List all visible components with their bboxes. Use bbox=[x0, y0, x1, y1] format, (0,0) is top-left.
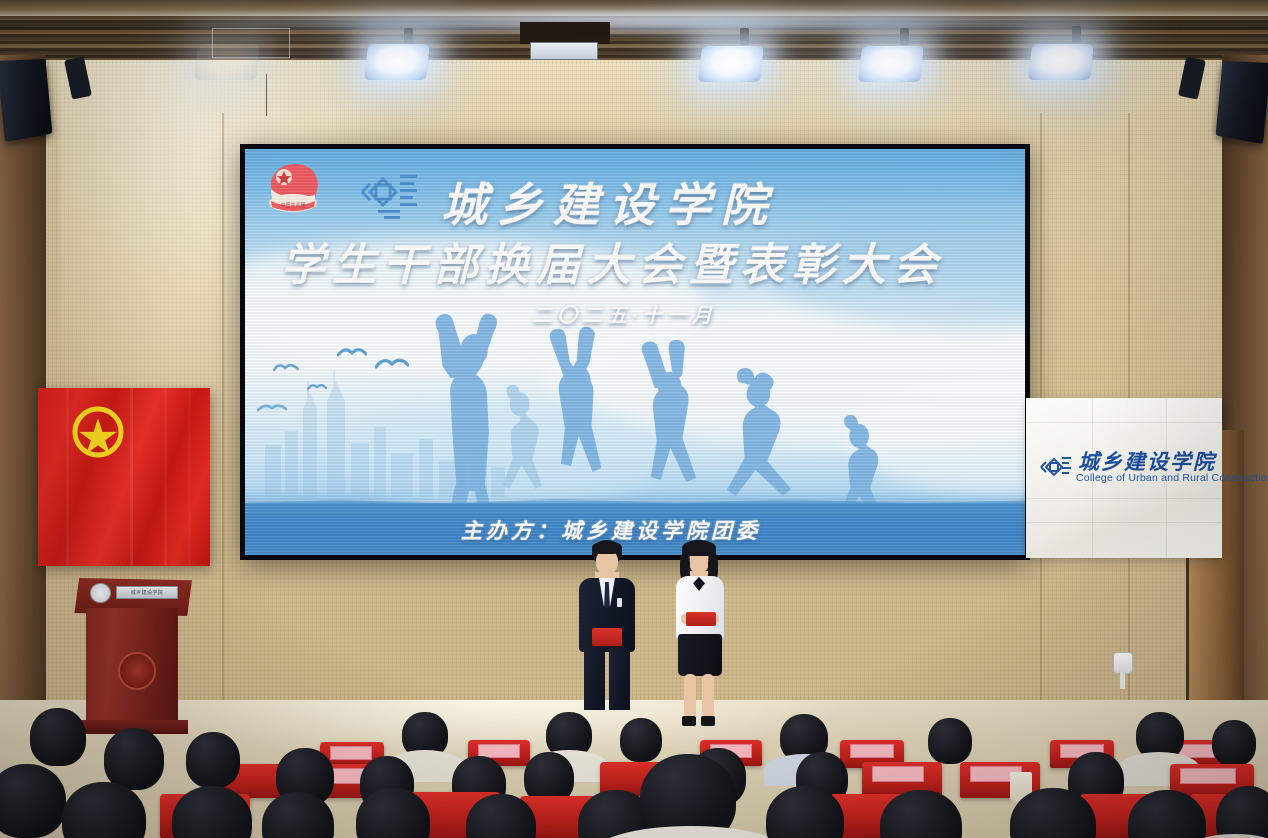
seat-name-card bbox=[850, 744, 894, 758]
audience-head bbox=[104, 728, 164, 790]
auditorium-photo: 中国共青团 城乡建设学 bbox=[0, 0, 1268, 838]
wall-sensor-icon bbox=[1113, 652, 1133, 674]
stage-light bbox=[1028, 44, 1094, 80]
stage-light bbox=[698, 46, 764, 82]
host-male bbox=[573, 540, 641, 710]
loudspeaker-right bbox=[1216, 61, 1268, 144]
seat-name-card bbox=[872, 766, 924, 782]
audience-area bbox=[0, 690, 1268, 838]
podium-nameplate: 城乡建设学院 bbox=[116, 586, 178, 599]
stage-light bbox=[858, 46, 924, 82]
college-logo-icon bbox=[350, 163, 420, 221]
led-backdrop-screen: 中国共青团 城乡建设学 bbox=[240, 144, 1030, 560]
screen-title-line1: 城乡建设学院 bbox=[441, 169, 777, 235]
loudspeaker-left bbox=[0, 59, 52, 142]
seat-name-card bbox=[330, 746, 372, 760]
led-screen-content: 中国共青团 城乡建设学 bbox=[245, 149, 1025, 555]
stage-light bbox=[194, 44, 260, 80]
podium-small-seal-icon bbox=[90, 583, 111, 603]
screen-date: 二〇二五·十一月 bbox=[532, 299, 717, 328]
id-badge bbox=[617, 598, 622, 607]
audience-head bbox=[62, 782, 146, 838]
ceiling-glow bbox=[180, 8, 1130, 34]
audience-head bbox=[0, 764, 66, 838]
wall-seam bbox=[222, 113, 224, 733]
podium-emblem-icon bbox=[118, 652, 156, 690]
left-wall-column bbox=[0, 55, 46, 715]
audience-head bbox=[928, 718, 972, 764]
svg-text:中国共青团: 中国共青团 bbox=[280, 202, 305, 209]
stage-light bbox=[364, 44, 430, 80]
red-folder bbox=[686, 612, 716, 626]
skirt bbox=[678, 634, 722, 676]
audience-head bbox=[620, 718, 662, 762]
audience-head bbox=[186, 732, 240, 788]
seat-name-card bbox=[1180, 768, 1236, 784]
banner-title-en: College of Urban and Rural Construction bbox=[1076, 472, 1268, 484]
college-banner: 城乡建设学院 College of Urban and Rural Constr… bbox=[1026, 398, 1222, 558]
ceiling-projector-box bbox=[520, 22, 610, 44]
youth-league-star-icon bbox=[70, 404, 126, 460]
ceiling-sign bbox=[530, 42, 598, 60]
screen-title-line2: 学生干部换届大会暨表彰大会 bbox=[281, 229, 944, 293]
red-folder bbox=[592, 628, 622, 646]
communist-youth-league-emblem-icon: 中国共青团 bbox=[263, 159, 325, 221]
audience-head bbox=[30, 708, 86, 766]
communist-youth-league-flag bbox=[38, 388, 210, 566]
college-logo-banner-icon bbox=[1038, 450, 1072, 484]
wall-sensor-cable bbox=[1120, 673, 1125, 689]
ceiling-wire bbox=[266, 74, 267, 116]
audience-head bbox=[1212, 720, 1256, 766]
